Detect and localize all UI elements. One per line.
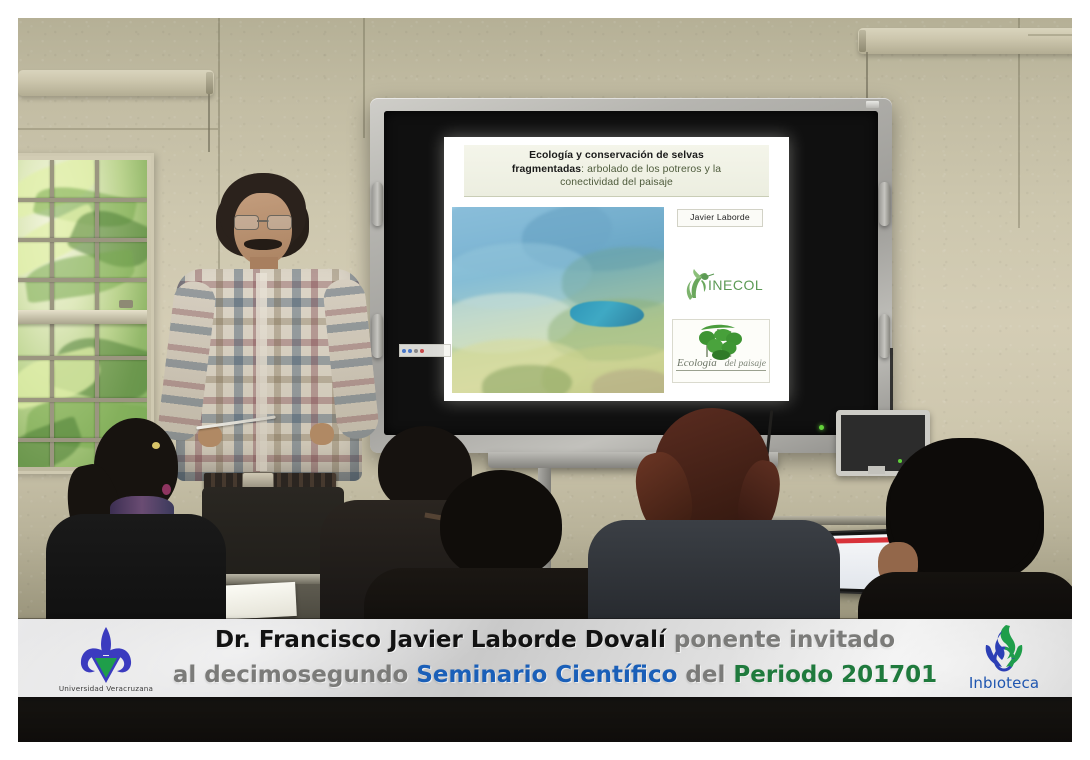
fleur-de-lis-icon <box>48 625 164 685</box>
photo-white-border: Ecología y conservación de selvas fragme… <box>0 0 1090 760</box>
slide-author-name: Javier Laborde <box>677 209 763 227</box>
caption-text-block: Dr. Francisco Javier Laborde Dovalí pone… <box>158 623 952 693</box>
blind-end-cap <box>859 30 866 52</box>
event-mid: del <box>685 662 725 688</box>
window-mullion <box>18 278 147 282</box>
whiteboard-power-led <box>819 425 824 430</box>
caption-line-2: al decimosegundo Seminario Científico de… <box>158 658 952 693</box>
inbioteca-flame-icon <box>952 623 1056 677</box>
whiteboard-handle-right[interactable] <box>879 182 890 226</box>
speaker-role: ponente invitado <box>674 627 895 653</box>
caption-banner: Universidad Veracruzana Dr. Francisco Ja… <box>18 619 1072 697</box>
presenter-hand-right <box>310 423 334 445</box>
glasses-lens <box>267 215 292 230</box>
person-head <box>440 470 562 580</box>
interactive-whiteboard[interactable]: Ecología y conservación de selvas fragme… <box>370 98 892 453</box>
wall-trim-left <box>18 128 218 130</box>
toolbar-highlighter-icon[interactable] <box>408 349 412 353</box>
presenter-glasses-icon <box>234 215 292 228</box>
wall-trim-right <box>1028 34 1072 36</box>
ecologia-paisaje-logo: Ecología del paisaje <box>672 319 770 383</box>
ecologia-word: Ecología <box>677 357 717 369</box>
slide-title: Ecología y conservación de selvas fragme… <box>464 145 769 197</box>
window-blind-right[interactable] <box>858 28 1072 54</box>
blind-cord-left[interactable] <box>208 94 210 152</box>
window-mullion <box>18 398 147 402</box>
paisaje-word: del paisaje <box>725 359 766 369</box>
inecol-logo: INECOL <box>680 267 764 303</box>
toolbar-eraser-icon[interactable] <box>414 349 418 353</box>
slide-title-rest-1: : arbolado de los potreros y la <box>581 164 721 175</box>
seminar-photograph: Ecología y conservación de selvas fragme… <box>18 18 1072 742</box>
slide-title-bold-1: Ecología y conservación de selvas <box>529 150 704 161</box>
slide-aerial-photo <box>452 207 664 393</box>
shirt-placket <box>256 273 267 471</box>
earring <box>162 484 171 495</box>
inbioteca-wordmark: Inbıoteca <box>952 674 1056 692</box>
window-sash-rail <box>18 310 147 324</box>
inbioteca-logo: Inbıoteca <box>952 623 1056 695</box>
slide-title-row-2: fragmentadas: arbolado de los potreros y… <box>468 163 765 177</box>
universidad-veracruzana-logo: Universidad Veracruzana <box>48 625 164 695</box>
lake <box>570 301 644 327</box>
hair-clip <box>152 442 160 449</box>
window-mullion <box>18 198 147 202</box>
inecol-wordmark: INECOL <box>708 277 763 293</box>
event-name: Seminario Científico <box>416 662 677 688</box>
wall-seam-mid <box>363 18 365 138</box>
whiteboard-toolbar[interactable] <box>399 344 451 357</box>
slide-title-row-1: Ecología y conservación de selvas <box>468 149 765 163</box>
window-blind-left[interactable] <box>18 70 214 96</box>
event-period: Periodo 201701 <box>733 662 937 688</box>
event-prefix: al decimosegundo <box>173 662 409 688</box>
uv-logo-caption: Universidad Veracruzana <box>48 684 164 693</box>
toolbar-close-icon[interactable] <box>420 349 424 353</box>
speaker-name: Dr. Francisco Javier Laborde Dovalí <box>215 627 666 653</box>
glasses-lens <box>234 215 259 230</box>
toolbar-pen-icon[interactable] <box>402 349 406 353</box>
logo-underline <box>676 370 766 371</box>
slide-title-bold-2: fragmentadas <box>512 164 581 175</box>
whiteboard-handle-left[interactable] <box>372 182 383 226</box>
window-mullion <box>18 356 147 360</box>
window-latch[interactable] <box>119 300 133 308</box>
presenter-mustache <box>244 239 282 250</box>
slide-title-row-3: conectividad del paisaje <box>468 176 765 190</box>
whiteboard-handle-right[interactable] <box>879 314 890 358</box>
whiteboard-sensor <box>866 101 879 108</box>
window-mullion <box>18 238 147 242</box>
caption-line-1: Dr. Francisco Javier Laborde Dovalí pone… <box>158 623 952 658</box>
blind-end-cap <box>206 72 213 94</box>
whiteboard-handle-left[interactable] <box>372 314 383 358</box>
slide-title-rest-2: conectividad del paisaje <box>560 177 673 188</box>
presentation-slide: Ecología y conservación de selvas fragme… <box>444 137 789 401</box>
whiteboard-screen-bezel: Ecología y conservación de selvas fragme… <box>384 111 878 435</box>
